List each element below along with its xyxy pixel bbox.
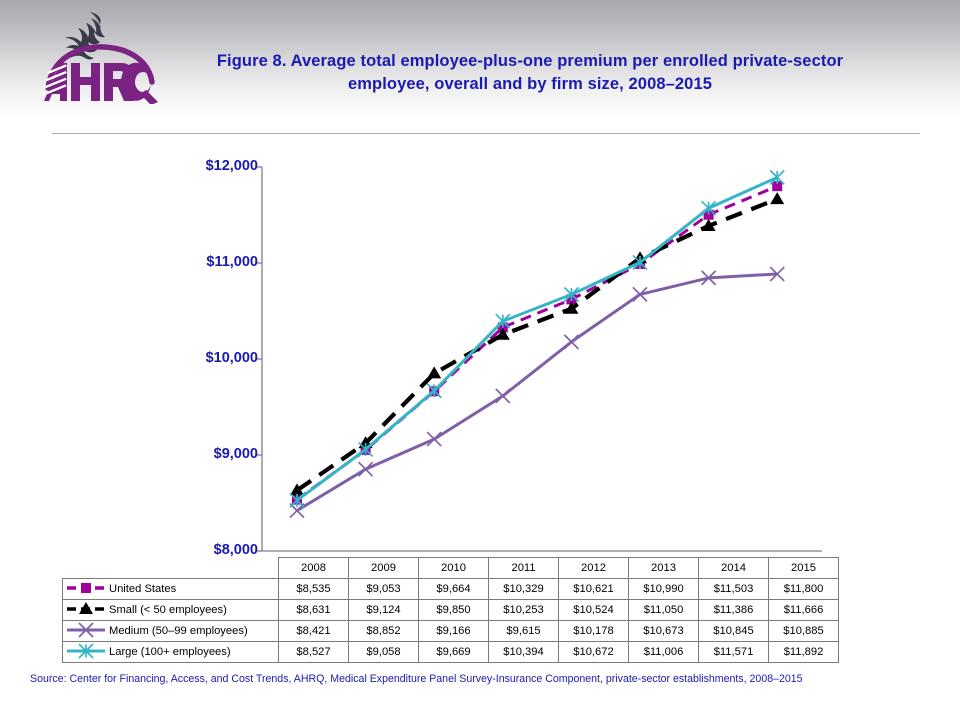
asterisk-legend-icon [66, 643, 106, 659]
value-cell-2012: $10,621 [559, 579, 629, 600]
value-cell-2008: $8,527 [279, 642, 349, 663]
triangle-legend-icon [66, 601, 106, 617]
value-cell-2009: $8,852 [349, 621, 419, 642]
y-axis-label-11000: $11,000 [180, 254, 258, 270]
source-note: Source: Center for Financing, Access, an… [30, 672, 910, 686]
value-cell-2009: $9,124 [349, 600, 419, 621]
column-header-2012: 2012 [559, 558, 629, 579]
legend-cell: United States [63, 579, 279, 600]
y-axis-label-12000: $12,000 [180, 158, 258, 174]
table-row: Medium (50–99 employees)$8,421$8,852$9,1… [63, 621, 839, 642]
chart-area: $12,000 $11,000 $10,000 $9,000 $8,000 [0, 140, 960, 565]
y-axis-label-9000: $9,000 [180, 446, 258, 462]
value-cell-2015: $11,666 [769, 600, 839, 621]
y-axis-label-10000: $10,000 [180, 350, 258, 366]
series-line [297, 274, 777, 511]
value-cell-2011: $9,615 [489, 621, 559, 642]
chart-plot [0, 140, 960, 565]
table-row: Large (100+ employees)$8,527$9,058$9,669… [63, 642, 839, 663]
value-cell-2011: $10,329 [489, 579, 559, 600]
value-cell-2012: $10,672 [559, 642, 629, 663]
series-large-100-employees [290, 170, 784, 507]
x-marker [359, 462, 373, 476]
value-cell-2013: $11,050 [629, 600, 699, 621]
table-corner-cell [63, 558, 279, 579]
asterisk-marker [770, 170, 784, 184]
value-cell-2012: $10,524 [559, 600, 629, 621]
table-row: United States$8,535$9,053$9,664$10,329$1… [63, 579, 839, 600]
ahrq-logo [30, 6, 162, 104]
square-legend-icon [66, 580, 106, 596]
column-header-2009: 2009 [349, 558, 419, 579]
value-cell-2013: $11,006 [629, 642, 699, 663]
triangle-marker [770, 192, 784, 204]
header-divider [52, 133, 920, 134]
x-marker [564, 335, 578, 349]
solid-asterisk-marker-icon [66, 643, 106, 662]
x-marker [427, 432, 441, 446]
legend-label: Medium (50–99 employees) [109, 625, 248, 637]
column-header-2014: 2014 [699, 558, 769, 579]
legend-cell: Medium (50–99 employees) [63, 621, 279, 642]
solid-x-marker-icon [66, 622, 106, 641]
value-cell-2013: $10,673 [629, 621, 699, 642]
table-row: Small (< 50 employees)$8,631$9,124$9,850… [63, 600, 839, 621]
value-cell-2014: $11,571 [699, 642, 769, 663]
value-cell-2013: $10,990 [629, 579, 699, 600]
table-body: United States$8,535$9,053$9,664$10,329$1… [63, 579, 839, 663]
legend-label: Small (< 50 employees) [109, 604, 227, 616]
dashed-triangle-marker-icon [66, 601, 106, 620]
x-legend-icon [66, 622, 106, 638]
column-header-2015: 2015 [769, 558, 839, 579]
square-marker [81, 583, 91, 593]
data-table: 2008 2009 2010 2011 2012 2013 2014 2015 … [62, 557, 839, 663]
value-cell-2010: $9,669 [419, 642, 489, 663]
page-title: Figure 8. Average total employee-plus-on… [180, 50, 880, 96]
x-marker [496, 389, 510, 403]
chart-series-layer [290, 170, 784, 517]
value-cell-2015: $11,892 [769, 642, 839, 663]
asterisk-marker [702, 201, 716, 215]
column-header-2011: 2011 [489, 558, 559, 579]
series-medium-50-99-employees [290, 267, 784, 518]
value-cell-2015: $11,800 [769, 579, 839, 600]
value-cell-2010: $9,850 [419, 600, 489, 621]
value-cell-2014: $11,386 [699, 600, 769, 621]
value-cell-2009: $9,058 [349, 642, 419, 663]
column-header-2010: 2010 [419, 558, 489, 579]
legend-cell: Small (< 50 employees) [63, 600, 279, 621]
ahrq-logo-svg [30, 6, 162, 104]
value-cell-2010: $9,166 [419, 621, 489, 642]
value-cell-2014: $10,845 [699, 621, 769, 642]
value-cell-2008: $8,631 [279, 600, 349, 621]
table-header-row: 2008 2009 2010 2011 2012 2013 2014 2015 [63, 558, 839, 579]
value-cell-2015: $10,885 [769, 621, 839, 642]
ahrq-wordmark [42, 63, 158, 104]
value-cell-2011: $10,394 [489, 642, 559, 663]
column-header-2013: 2013 [629, 558, 699, 579]
value-cell-2010: $9,664 [419, 579, 489, 600]
asterisk-marker [496, 314, 510, 328]
legend-cell: Large (100+ employees) [63, 642, 279, 663]
value-cell-2008: $8,421 [279, 621, 349, 642]
value-cell-2008: $8,535 [279, 579, 349, 600]
triangle-marker [427, 366, 441, 378]
dashed-square-marker-icon [66, 580, 106, 599]
value-cell-2009: $9,053 [349, 579, 419, 600]
value-cell-2011: $10,253 [489, 600, 559, 621]
value-cell-2012: $10,178 [559, 621, 629, 642]
y-axis-label-8000: $8,000 [180, 542, 258, 558]
column-header-2008: 2008 [279, 558, 349, 579]
legend-label: United States [109, 583, 176, 595]
value-cell-2014: $11,503 [699, 579, 769, 600]
legend-label: Large (100+ employees) [109, 646, 231, 658]
